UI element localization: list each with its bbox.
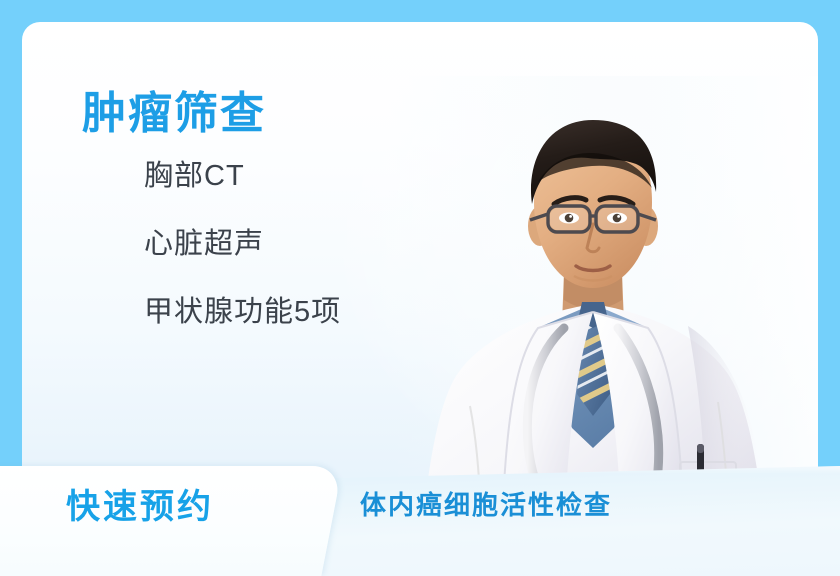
page-title: 肿瘤筛查 (82, 92, 341, 136)
banner-text-block: 肿瘤筛查 胸部CT 心脏超声 甲状腺功能5项 (82, 92, 341, 327)
list-item: 心脏超声 (144, 230, 341, 259)
list-item: 甲状腺功能5项 (144, 298, 341, 327)
bottom-bar: 快速预约 体内癌细胞活性检查 (0, 460, 840, 576)
list-item: 胸部CT (144, 162, 341, 191)
service-list: 胸部CT 心脏超声 甲状腺功能5项 (82, 162, 341, 327)
tagline-text: 体内癌细胞活性检查 (360, 492, 612, 518)
promo-banner: 肿瘤筛查 胸部CT 心脏超声 甲状腺功能5项 快速预约 体内癌细胞活性检查 (0, 0, 840, 576)
quick-book-label[interactable]: 快速预约 (66, 490, 214, 524)
